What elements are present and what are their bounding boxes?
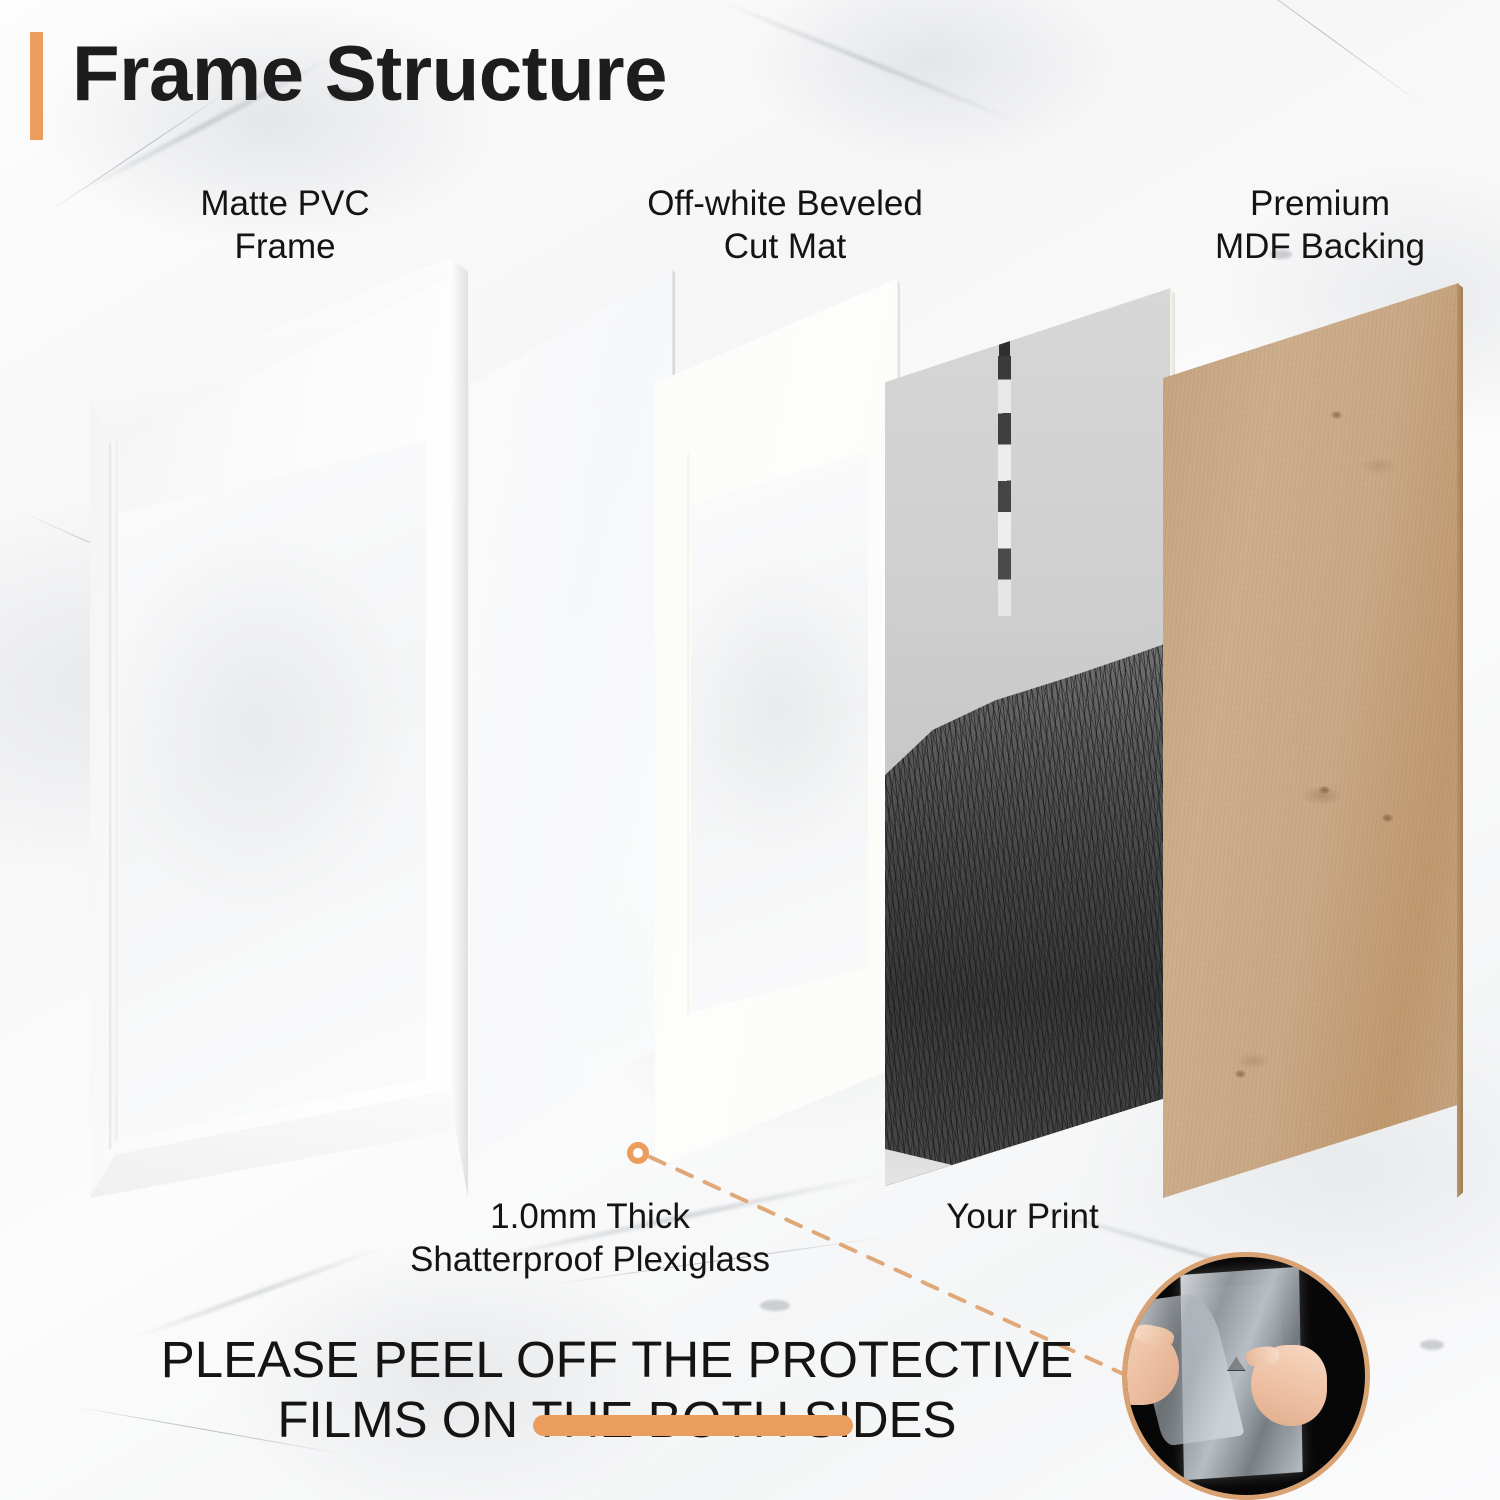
layer-cut-mat [655, 278, 900, 1168]
infographic-canvas: Frame Structure Matte PVC Frame Off-whit… [0, 0, 1500, 1500]
peel-film-inset-photo [1122, 1252, 1370, 1500]
marble-speck [1420, 1340, 1444, 1350]
print-photo [885, 288, 1175, 1186]
mdf-side-edge [1457, 283, 1463, 1198]
mat-window-opening [689, 452, 868, 1013]
label-cut-mat: Off-white Beveled Cut Mat [595, 183, 975, 268]
plexiglass-sheet [470, 268, 675, 1158]
title-accent-bar [30, 32, 43, 140]
layer-mdf-backing [1163, 283, 1463, 1198]
marble-speck [760, 1300, 790, 1311]
label-mdf-backing: Premium MDF Backing [1155, 183, 1485, 268]
label-your-print: Your Print [880, 1196, 1165, 1239]
layer-matte-pvc-frame [88, 258, 468, 1198]
mdf-texture [1163, 283, 1463, 1198]
layer-plexiglass [470, 268, 675, 1158]
lighthouse-tower [998, 356, 1011, 617]
mdf-knot [1382, 814, 1393, 822]
mat-bevel-edge [687, 445, 691, 1016]
mdf-knot [1235, 1070, 1246, 1078]
connector-marker-dot [627, 1142, 649, 1164]
label-plexiglass: 1.0mm Thick Shatterproof Plexiglass [280, 1196, 900, 1281]
notice-highlight-bar [533, 1415, 853, 1436]
frame-inner-bevel [109, 433, 118, 1151]
frame-side-edge [449, 258, 468, 1198]
label-matte-pvc-frame: Matte PVC Frame [110, 183, 460, 268]
page-title: Frame Structure [72, 28, 667, 119]
layer-your-print [885, 288, 1175, 1186]
frame-opening [113, 441, 427, 1141]
peel-notice-line-1: PLEASE PEEL OFF THE PROTECTIVE [152, 1330, 1082, 1390]
